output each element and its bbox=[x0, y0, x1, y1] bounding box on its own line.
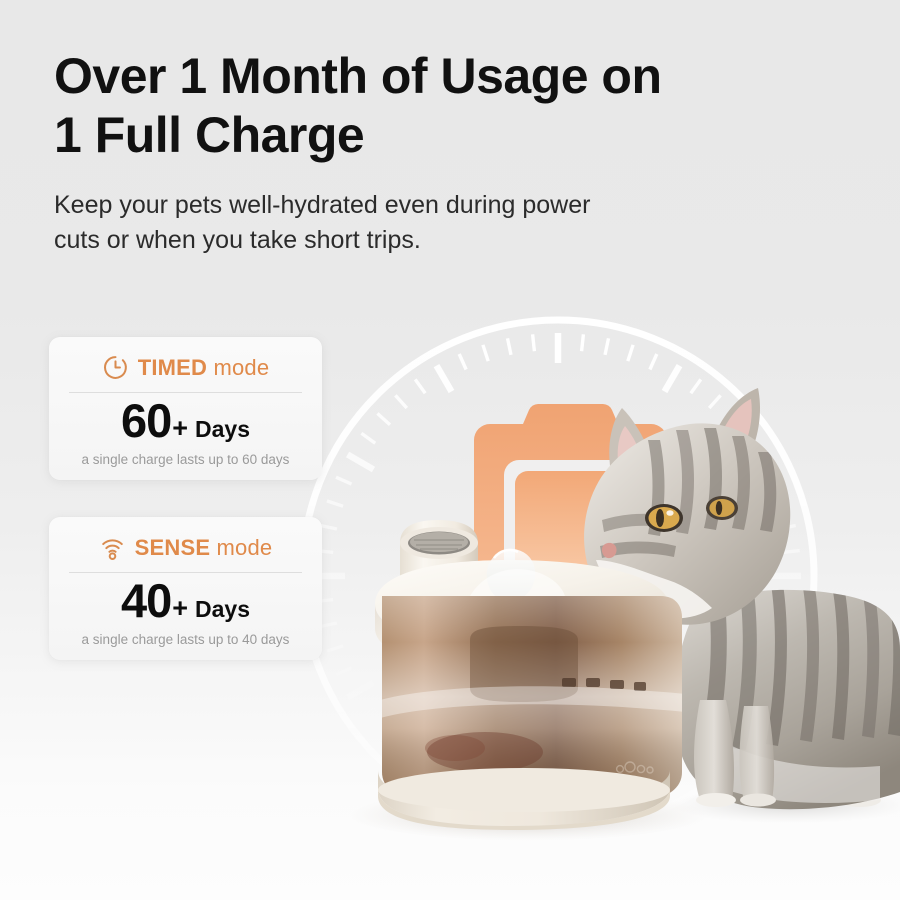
page-subtitle: Keep your pets well-hydrated even during… bbox=[54, 188, 754, 257]
mode-card-sense[interactable]: SENSE mode 40 + Days a single charge las… bbox=[49, 517, 322, 660]
metric-plus: + bbox=[172, 415, 188, 442]
metric-unit: Days bbox=[195, 418, 250, 441]
card-title-strong: TIMED bbox=[138, 355, 207, 380]
card-title-soft: mode bbox=[210, 535, 272, 560]
clock-icon bbox=[102, 354, 129, 381]
wifi-sensor-icon bbox=[99, 534, 126, 561]
card-title: TIMED mode bbox=[138, 355, 270, 381]
mode-card-timed[interactable]: TIMED mode 60 + Days a single charge las… bbox=[49, 337, 322, 480]
metric-plus: + bbox=[172, 595, 188, 622]
card-title: SENSE mode bbox=[135, 535, 273, 561]
card-title-strong: SENSE bbox=[135, 535, 211, 560]
card-divider bbox=[69, 572, 302, 573]
page-title: Over 1 Month of Usage on 1 Full Charge bbox=[54, 47, 754, 165]
card-header: SENSE mode bbox=[65, 531, 306, 564]
card-metric: 40 + Days bbox=[65, 577, 306, 629]
metric-number: 40 bbox=[121, 577, 171, 624]
card-title-soft: mode bbox=[207, 355, 269, 380]
card-metric: 60 + Days bbox=[65, 397, 306, 449]
card-note: a single charge lasts up to 60 days bbox=[65, 452, 306, 467]
product-feature-page: Over 1 Month of Usage on 1 Full Charge K… bbox=[0, 0, 900, 900]
card-header: TIMED mode bbox=[65, 351, 306, 384]
metric-number: 60 bbox=[121, 397, 171, 444]
card-divider bbox=[69, 392, 302, 393]
card-note: a single charge lasts up to 40 days bbox=[65, 632, 306, 647]
metric-unit: Days bbox=[195, 598, 250, 621]
